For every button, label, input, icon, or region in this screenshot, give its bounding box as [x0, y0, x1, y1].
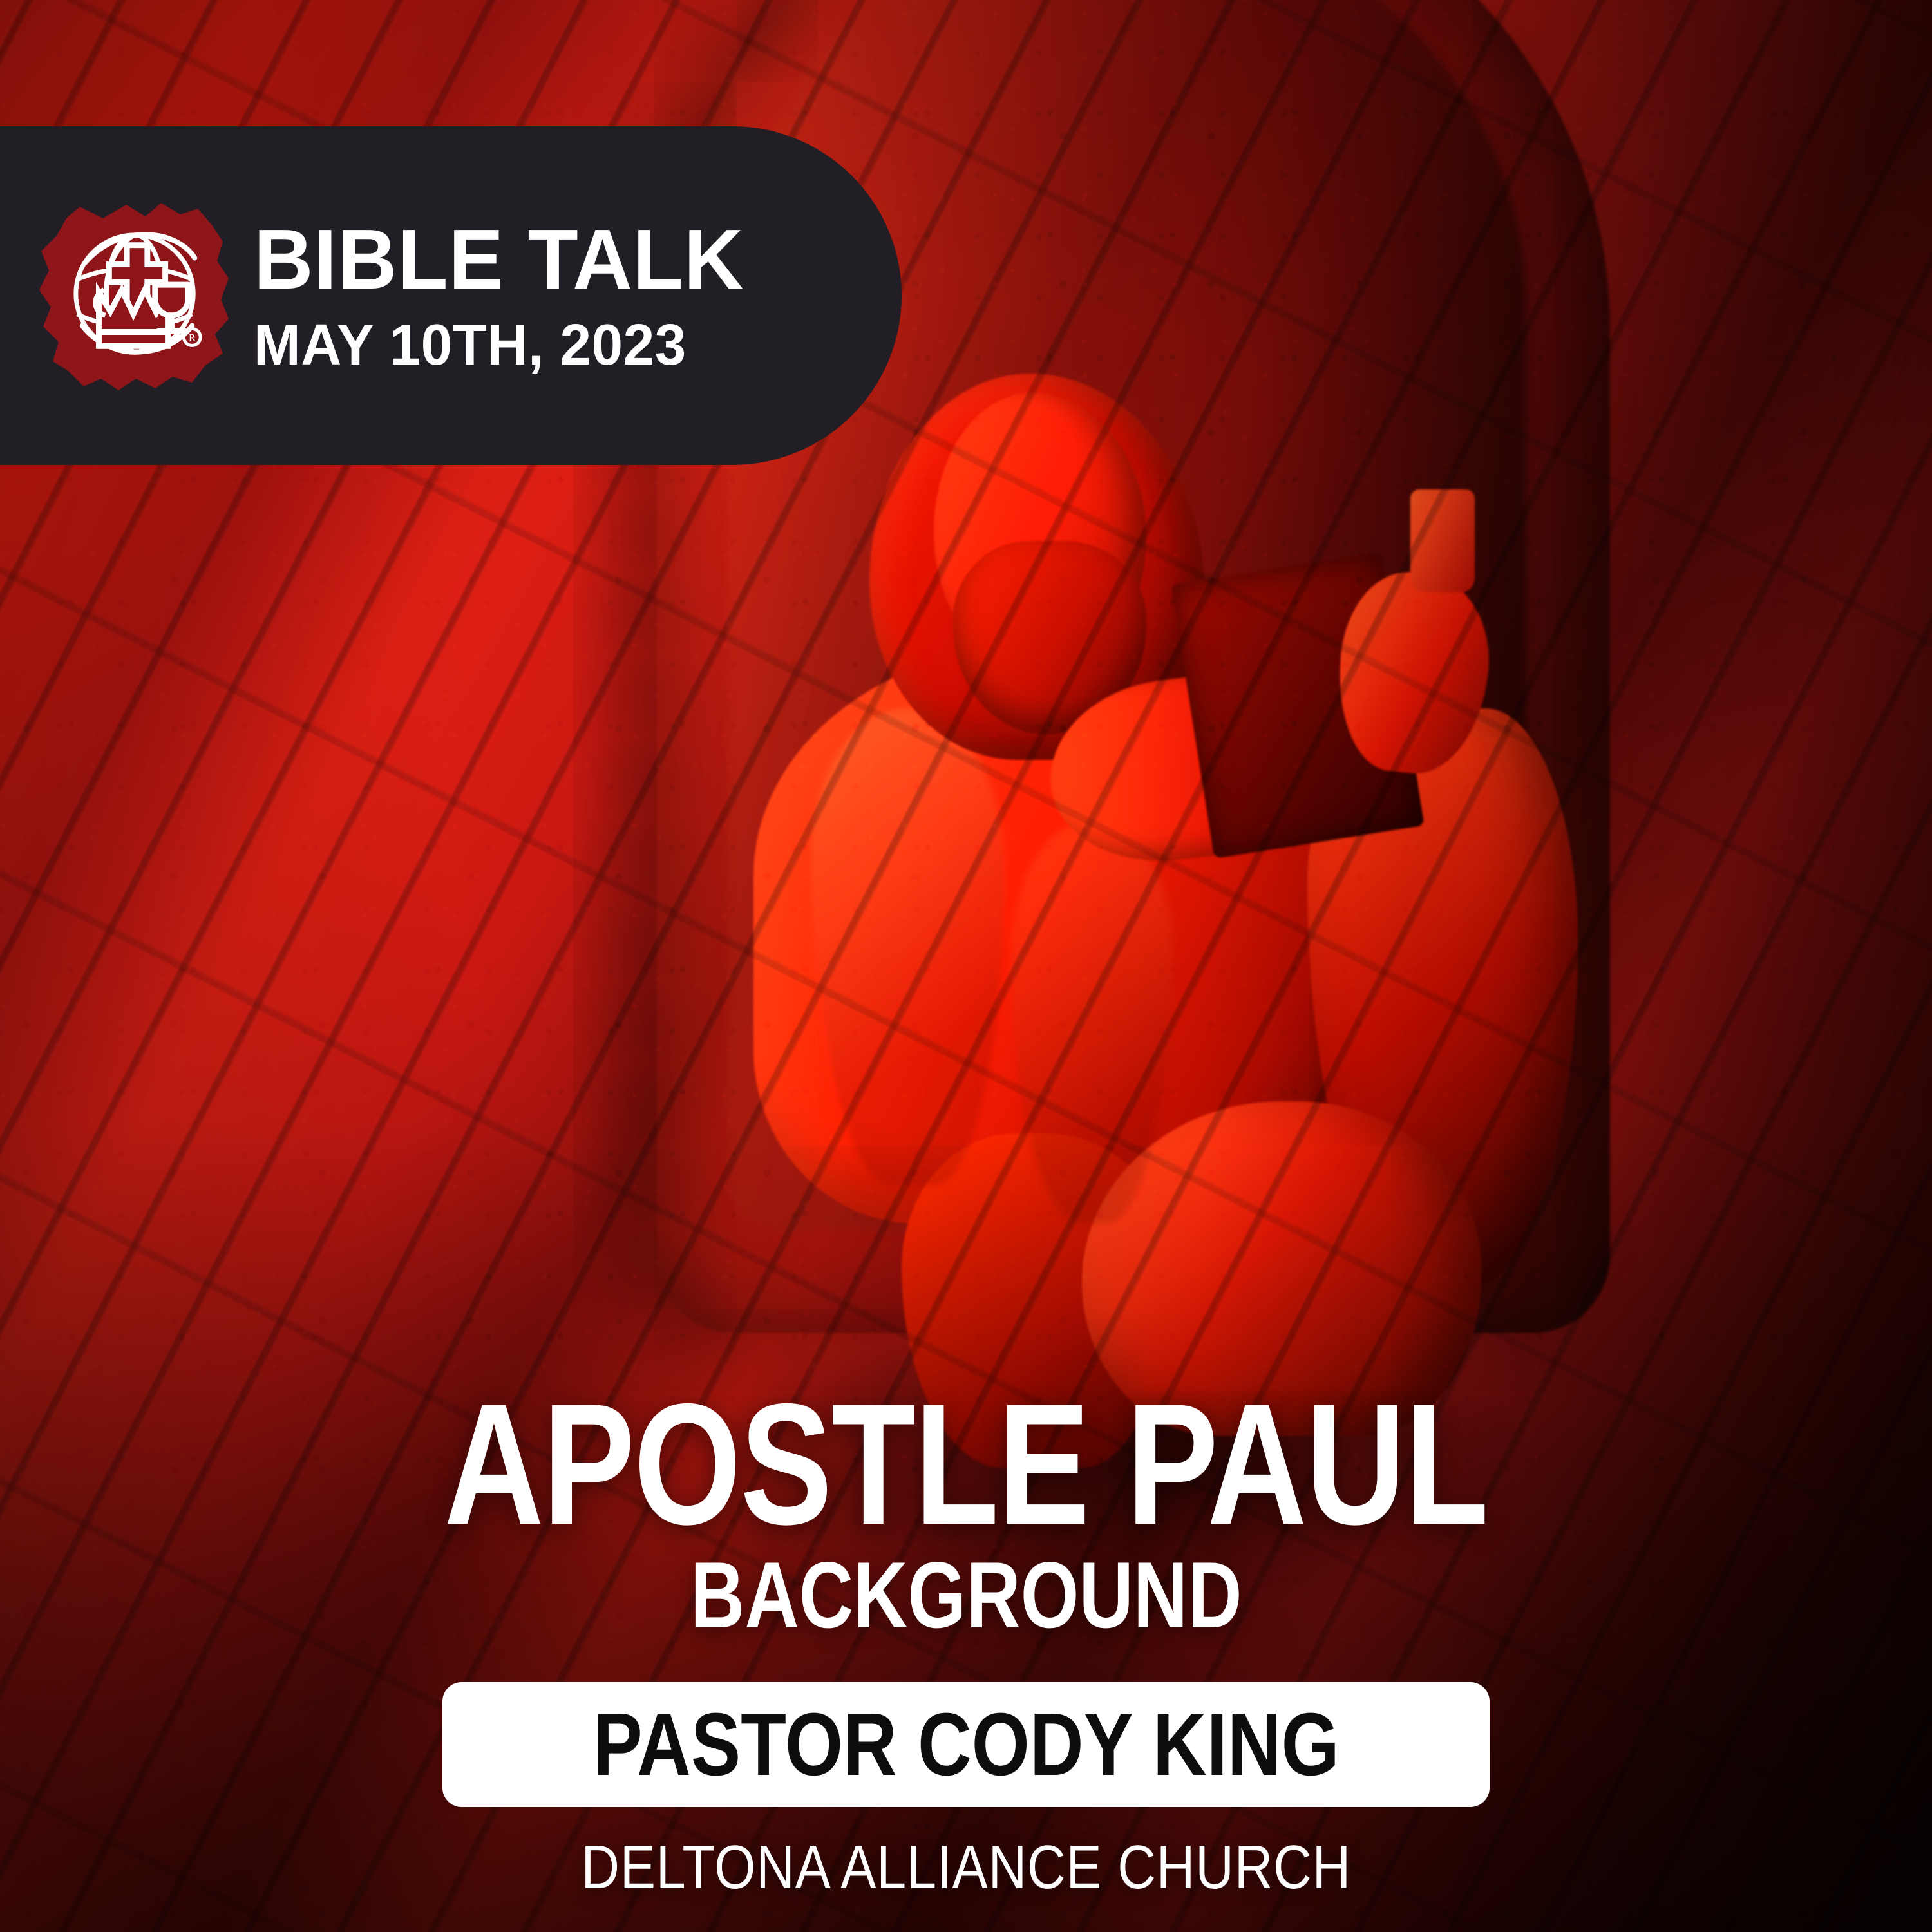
- church-logo: R: [37, 199, 231, 392]
- sermon-subhead: BACKGROUND: [690, 1548, 1242, 1642]
- cma-emblem-icon: R: [59, 218, 213, 372]
- registered-trademark-icon: R: [184, 329, 200, 346]
- bottom-content-block: APOSTLE PAUL BACKGROUND PASTOR CODY KING…: [0, 1392, 1932, 1932]
- badge-text-block: BIBLE TALK MAY 10TH, 2023: [254, 217, 759, 374]
- sermon-headline: APOSTLE PAUL: [444, 1392, 1488, 1537]
- speaker-name: PASTOR CODY KING: [592, 1700, 1339, 1789]
- speaker-name-pill: PASTOR CODY KING: [442, 1682, 1490, 1807]
- bible-talk-poster: R BIBLE TALK MAY 10TH, 2023 APOSTLE PAUL…: [0, 0, 1932, 1932]
- event-header-badge: R BIBLE TALK MAY 10TH, 2023: [0, 126, 902, 465]
- svg-text:R: R: [189, 332, 196, 343]
- event-date: MAY 10TH, 2023: [254, 316, 744, 374]
- organization-name: DELTONA ALLIANCE CHURCH: [581, 1837, 1351, 1899]
- event-title: BIBLE TALK: [254, 217, 744, 302]
